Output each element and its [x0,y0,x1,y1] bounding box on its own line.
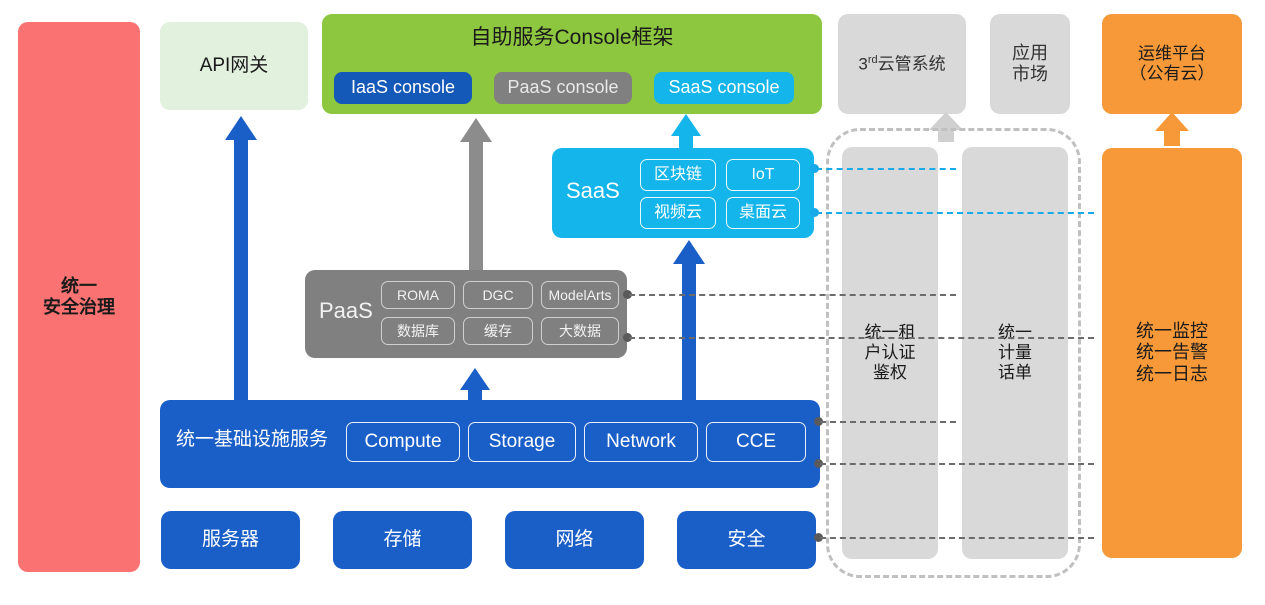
paas-console-button[interactable]: PaaS console [494,72,632,104]
tenant-auth-line3: 鉴权 [873,363,907,383]
ops-platform-line1: 运维平台 [1138,44,1206,64]
saas-label: SaaS [566,178,620,204]
monitoring-line3: 统一日志 [1136,364,1208,385]
paas-chip-bigdata-label: 大数据 [559,323,601,340]
unified-tenant-auth-column: 统一租 户认证 鉴权 [842,147,938,559]
architecture-diagram: 统一 安全治理 API网关 自助服务Console框架 IaaS console… [0,0,1265,605]
connector-iaas-to-tenant-auth [820,421,956,423]
infra-box-network-label: 网络 [555,529,593,551]
iaas-chip-compute[interactable]: Compute [346,422,460,462]
app-market-box: 应用 市场 [990,14,1070,114]
saas-chip-iot-label: IoT [751,166,774,185]
app-market-line2: 市场 [1012,64,1048,85]
connector-saas-to-tenant-auth [816,168,956,170]
metering-line2: 计量 [998,343,1032,363]
api-gateway-label: API网关 [200,55,269,77]
iaas-chip-compute-label: Compute [364,431,441,453]
third-party-rest: 云管系统 [878,54,946,73]
paas-box: PaaS ROMA DGC ModelArts 数据库 缓存 大数据 [305,270,627,358]
paas-chip-bigdata[interactable]: 大数据 [541,317,619,345]
third-party-label: 3rd云管系统 [858,54,945,75]
arrow-iaas-to-api-gateway [224,116,258,416]
paas-chip-roma-label: ROMA [397,287,439,304]
security-label-line1: 统一 [61,276,97,297]
iaas-chip-cce[interactable]: CCE [706,422,806,462]
infra-box-security-label: 安全 [727,529,765,551]
unified-infrastructure-service-bar: 统一基础设施服务 Compute Storage Network CCE [160,400,820,488]
ops-platform-box: 运维平台 （公有云） [1102,14,1242,114]
paas-chip-cache-label: 缓存 [484,323,512,340]
tenant-auth-line2: 户认证 [865,343,916,363]
paas-chip-cache[interactable]: 缓存 [463,317,533,345]
iaas-chip-storage[interactable]: Storage [468,422,576,462]
iaas-chip-storage-label: Storage [489,431,556,453]
iaas-console-button[interactable]: IaaS console [334,72,472,104]
security-label-line2: 安全治理 [43,297,115,318]
iaas-chip-network-label: Network [606,431,676,453]
tenant-auth-line1: 统一租 [865,323,916,343]
third-party-cloud-mgmt-box: 3rd云管系统 [838,14,966,114]
monitoring-line1: 统一监控 [1136,321,1208,342]
paas-chip-database[interactable]: 数据库 [381,317,455,345]
saas-box: SaaS 区块链 IoT 视频云 桌面云 [552,148,814,238]
connector-saas-to-monitoring [816,212,1094,214]
paas-chip-roma[interactable]: ROMA [381,281,455,309]
iaas-console-label: IaaS console [351,77,455,98]
paas-chip-dgc[interactable]: DGC [463,281,533,309]
connector-paas-to-tenant-auth [629,294,956,296]
infra-box-storage-label: 存储 [383,529,421,551]
api-gateway-box: API网关 [160,22,308,110]
unified-monitoring-column: 统一监控 统一告警 统一日志 [1102,148,1242,558]
arrow-paas-to-console [459,118,493,270]
saas-chip-video-cloud[interactable]: 视频云 [640,197,716,229]
paas-chip-dgc-label: DGC [482,287,513,304]
infra-box-network[interactable]: 网络 [505,511,644,569]
paas-chip-database-label: 数据库 [397,323,439,340]
infra-box-server[interactable]: 服务器 [161,511,300,569]
iaas-label: 统一基础设施服务 [176,429,328,451]
saas-chip-video-cloud-label: 视频云 [654,204,702,223]
iaas-chip-network[interactable]: Network [584,422,698,462]
paas-chip-modelarts[interactable]: ModelArts [541,281,619,309]
saas-chip-iot[interactable]: IoT [726,159,800,191]
console-frame-title: 自助服务Console框架 [322,26,822,51]
infra-box-server-label: 服务器 [202,529,259,551]
unified-security-governance-column: 统一 安全治理 [18,22,140,572]
app-market-line1: 应用 [1012,43,1048,64]
ops-platform-line2: （公有云） [1130,64,1215,84]
monitoring-line2: 统一告警 [1136,342,1208,363]
arrow-iaas-to-saas [672,240,706,410]
infra-box-security[interactable]: 安全 [677,511,816,569]
saas-chip-blockchain-label: 区块链 [654,166,702,185]
console-frame-box: 自助服务Console框架 IaaS console PaaS console … [322,14,822,114]
saas-chip-blockchain[interactable]: 区块链 [640,159,716,191]
connector-iaas-to-monitoring [820,463,1094,465]
metering-line3: 话单 [998,363,1032,383]
paas-chip-modelarts-label: ModelArts [548,287,611,304]
saas-console-button[interactable]: SaaS console [654,72,794,104]
iaas-chip-cce-label: CCE [736,431,776,453]
third-party-sup: rd [868,54,878,66]
infra-box-storage[interactable]: 存储 [333,511,472,569]
saas-console-label: SaaS console [668,77,779,98]
third-party-prefix: 3 [858,54,867,73]
connector-infra-to-monitoring [820,537,1094,539]
unified-metering-billing-column: 统一 计量 话单 [962,147,1068,559]
paas-label: PaaS [319,298,373,324]
paas-console-label: PaaS console [507,77,618,98]
saas-chip-desktop-cloud-label: 桌面云 [739,204,787,223]
metering-line1: 统一 [998,323,1032,343]
saas-chip-desktop-cloud[interactable]: 桌面云 [726,197,800,229]
arrow-monitoring-to-ops-platform [1154,112,1190,146]
connector-paas-to-monitoring [629,337,1094,339]
